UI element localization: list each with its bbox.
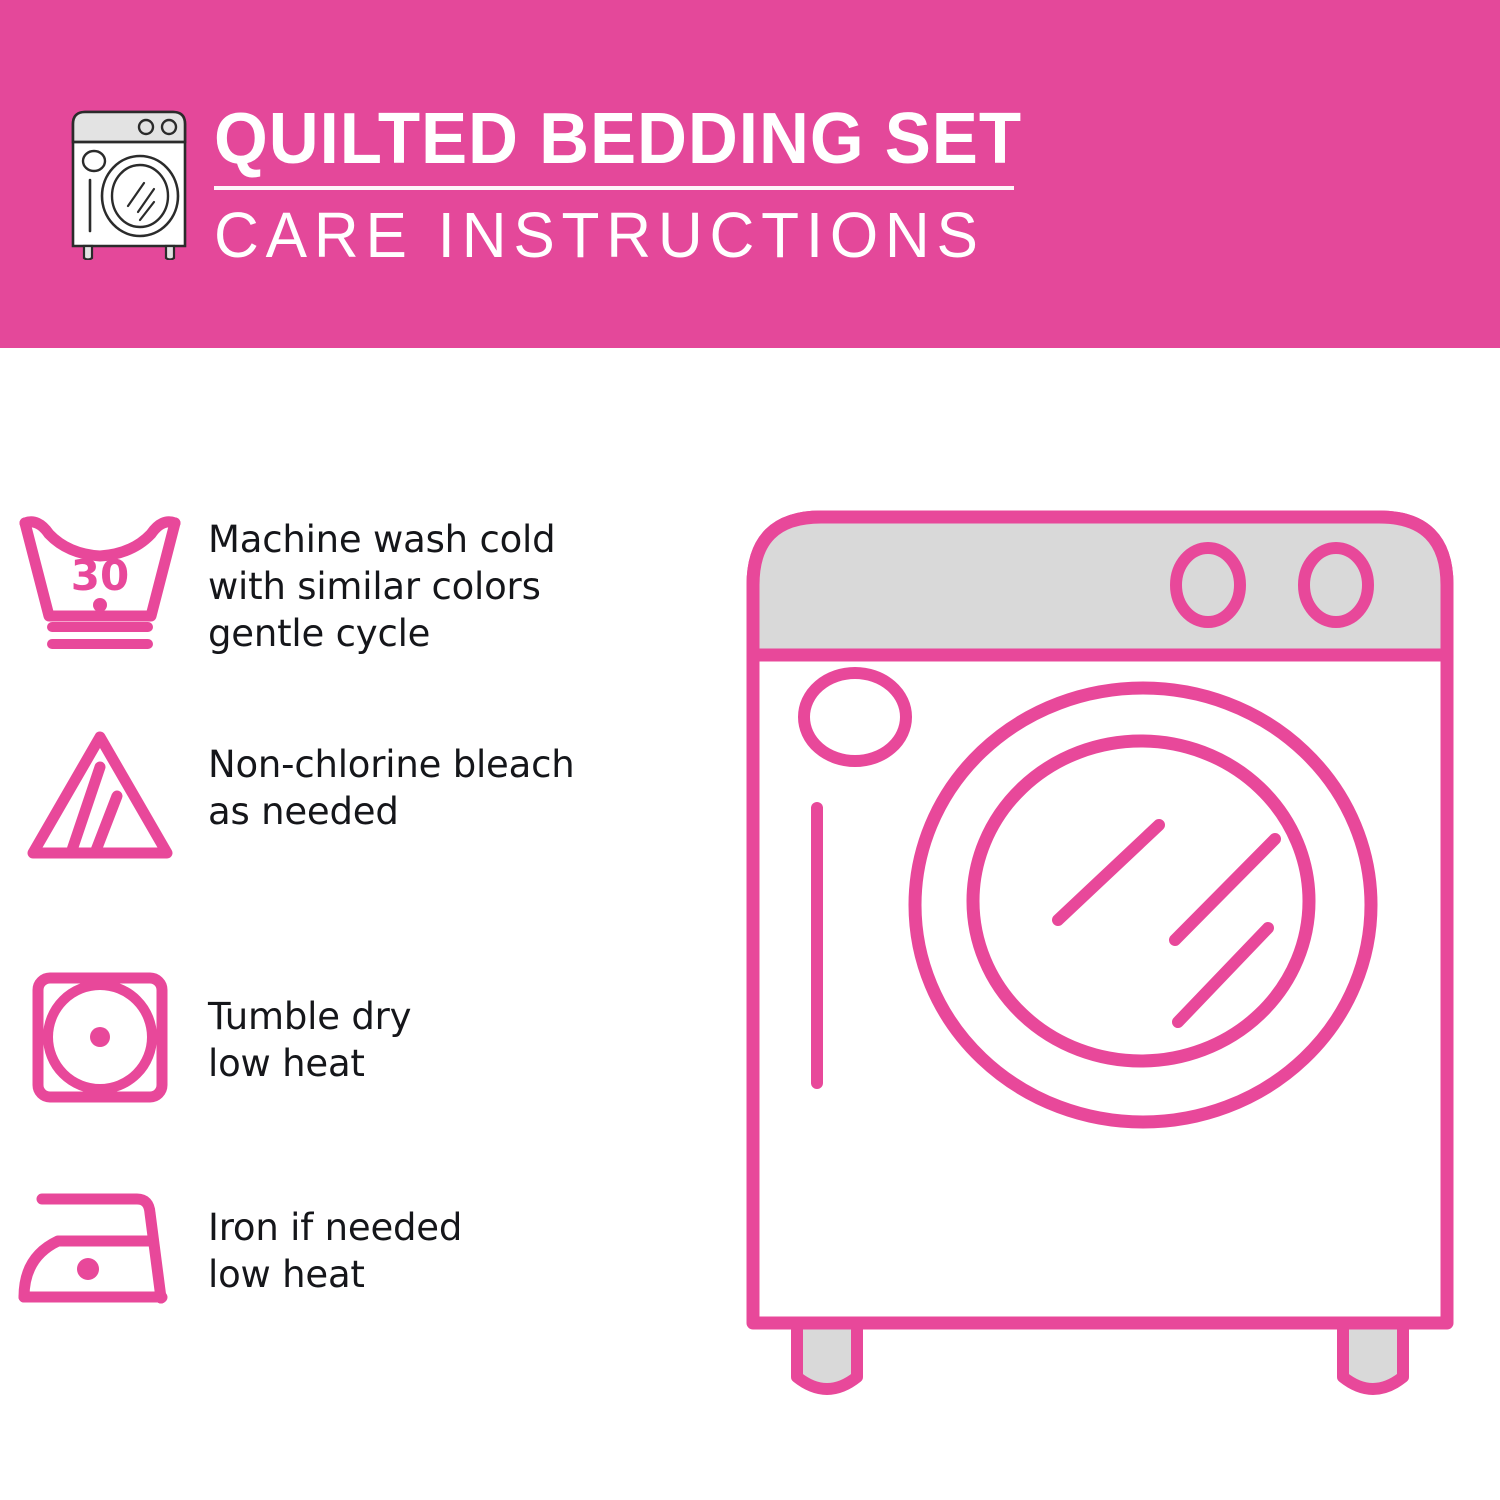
care-item-label: Tumble dry low heat (200, 965, 411, 1087)
care-instructions-page: QUILTED BEDDING SET CARE INSTRUCTIONS 30 (0, 0, 1500, 1500)
header-banner: QUILTED BEDDING SET CARE INSTRUCTIONS (0, 0, 1500, 348)
bleach-triangle-icon (0, 723, 200, 868)
title-divider (214, 186, 1014, 190)
header-text-block: QUILTED BEDDING SET CARE INSTRUCTIONS (214, 100, 1024, 270)
care-item-tumble-dry: Tumble dry low heat (0, 965, 740, 1110)
care-item-label: Non-chlorine bleach as needed (200, 723, 575, 835)
care-item-label: Machine wash cold with similar colors ge… (200, 508, 555, 657)
washing-machine-icon (68, 108, 190, 260)
iron-icon (0, 1180, 200, 1325)
page-title: QUILTED BEDDING SET (214, 100, 992, 178)
wash-tub-30-icon: 30 (0, 508, 200, 653)
tumble-dry-icon (0, 965, 200, 1110)
care-item-label: Iron if needed low heat (200, 1180, 462, 1298)
care-item-iron: Iron if needed low heat (0, 1180, 740, 1325)
svg-text:30: 30 (71, 551, 129, 600)
care-item-wash: 30 Machine wash cold with similar colors… (0, 508, 740, 657)
page-subtitle: CARE INSTRUCTIONS (214, 200, 1000, 270)
washing-machine-illustration (735, 495, 1465, 1435)
care-symbol-list: 30 Machine wash cold with similar colors… (0, 348, 740, 1500)
care-item-bleach: Non-chlorine bleach as needed (0, 723, 740, 868)
